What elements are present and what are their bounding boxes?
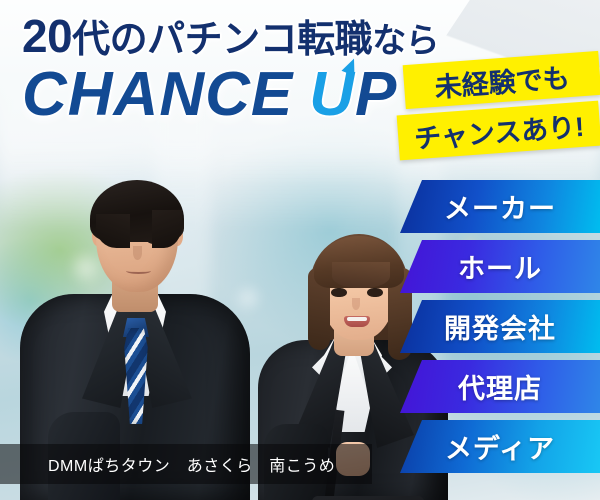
category-label-media: メディア	[445, 427, 555, 466]
man-nose	[133, 246, 142, 260]
logo-word-chance: CHANCE	[22, 60, 293, 129]
category-button-list: メーカー ホール 開発会社 代理店 メディア	[400, 180, 600, 480]
woman-hair-bangs	[314, 236, 404, 288]
woman-eye-left	[331, 288, 347, 297]
headline-middle: 代のパチンコ転職	[72, 19, 372, 61]
headline-tail: なら	[372, 22, 439, 60]
category-label-hall: ホール	[458, 247, 542, 286]
woman-eye-right	[367, 288, 383, 297]
category-button-hall[interactable]: ホール	[400, 240, 600, 293]
kicker-text-1: 未経験でも	[433, 56, 570, 105]
category-button-media[interactable]: メディア	[400, 420, 600, 473]
woman-mouth	[344, 316, 370, 327]
headline-block: 20代のパチンコ転職なら CHANCEUP	[22, 12, 442, 126]
category-button-dev[interactable]: 開発会社	[400, 300, 600, 353]
woman-bag	[312, 496, 424, 500]
category-button-maker[interactable]: メーカー	[400, 180, 600, 233]
credit-text: DMMぱちタウン あさくら 南こうめ	[48, 452, 335, 476]
headline-line-1: 20代のパチンコ転職なら	[22, 12, 442, 62]
logo-letter-u: U	[309, 64, 355, 126]
category-button-agency[interactable]: 代理店	[400, 360, 600, 413]
logo-letter-p: P	[355, 60, 397, 129]
category-label-agency: 代理店	[458, 367, 542, 406]
man-hair	[90, 180, 184, 242]
category-label-dev: 開発会社	[444, 307, 556, 346]
woman-nose	[352, 298, 360, 310]
promo-banner: 20代のパチンコ転職なら CHANCEUP 未経験でも チャンスあり! メーカー…	[0, 0, 600, 500]
chance-up-logo: CHANCEUP	[22, 64, 442, 126]
kicker-text-2: チャンスあり!	[413, 105, 586, 156]
credit-strip: DMMぱちタウン あさくら 南こうめ	[0, 444, 372, 484]
category-label-maker: メーカー	[444, 187, 556, 226]
headline-number: 20	[22, 10, 72, 62]
man-mouth	[126, 268, 151, 274]
